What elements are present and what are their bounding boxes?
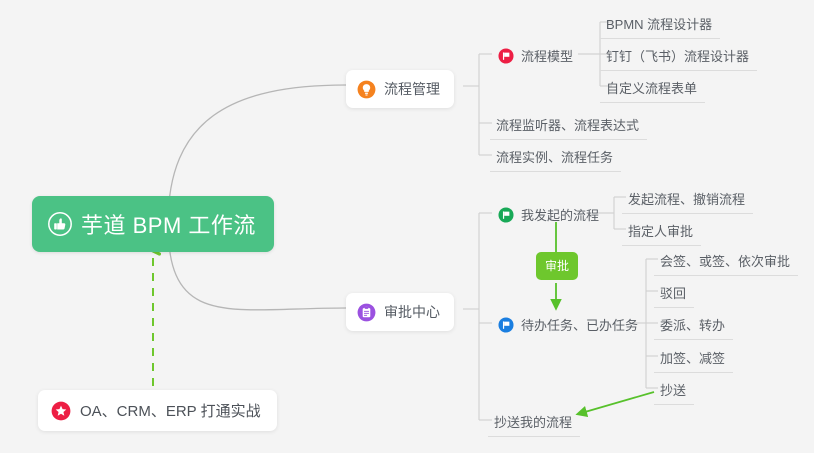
leaf-node-delegate-transfer[interactable]: 委派、转办 [654, 311, 733, 340]
clipboard-icon [357, 303, 376, 322]
node-todo-done-tasks[interactable]: 待办任务、已办任务 [492, 311, 646, 339]
node-process-model[interactable]: 流程模型 [492, 42, 581, 70]
leaf-node-dingtalk-designer[interactable]: 钉钉（飞书）流程设计器 [600, 42, 757, 71]
node-my-initiated-process[interactable]: 我发起的流程 [492, 201, 607, 229]
floating-note-integration[interactable]: OA、CRM、ERP 打通实战 [38, 390, 277, 431]
leaf-node-cc[interactable]: 抄送 [654, 376, 694, 405]
node-label: 驳回 [660, 283, 686, 302]
leaf-node-instance-task[interactable]: 流程实例、流程任务 [490, 143, 621, 172]
node-label: 抄送 [660, 380, 686, 399]
node-label: BPMN 流程设计器 [606, 14, 712, 33]
node-label: 流程实例、流程任务 [496, 147, 613, 166]
arrow-cc-to-cc-my-process [578, 392, 654, 414]
leaf-node-add-remove-sign[interactable]: 加签、减签 [654, 344, 733, 373]
node-label: 流程模型 [521, 46, 573, 65]
node-label: 委派、转办 [660, 315, 725, 334]
flag-icon [498, 317, 514, 333]
node-label: 发起流程、撤销流程 [628, 189, 745, 208]
leaf-node-listener-expression[interactable]: 流程监听器、流程表达式 [490, 111, 647, 140]
star-icon [51, 401, 71, 421]
leaf-node-custom-form[interactable]: 自定义流程表单 [600, 74, 705, 103]
leaf-node-countersign[interactable]: 会签、或签、依次审批 [654, 247, 798, 276]
thumbs-up-icon [48, 212, 72, 236]
approval-tag[interactable]: 审批 [536, 252, 578, 280]
lightbulb-pin-icon [357, 80, 376, 99]
mindmap-canvas: 芋道 BPM 工作流 流程管理 审批中心 [0, 0, 814, 453]
node-label: 钉钉（飞书）流程设计器 [606, 46, 749, 65]
root-node[interactable]: 芋道 BPM 工作流 [32, 196, 274, 252]
leaf-node-designated-approver[interactable]: 指定人审批 [622, 217, 701, 246]
root-label: 芋道 BPM 工作流 [81, 208, 256, 240]
approval-tag-label: 审批 [545, 259, 569, 273]
branch-label: 审批中心 [384, 302, 440, 322]
node-label: 我发起的流程 [521, 205, 599, 224]
branch-node-process-management[interactable]: 流程管理 [346, 70, 454, 108]
leaf-node-reject[interactable]: 驳回 [654, 279, 694, 308]
flag-icon [498, 48, 514, 64]
floating-note-label: OA、CRM、ERP 打通实战 [80, 400, 261, 421]
branch-node-approval-center[interactable]: 审批中心 [346, 293, 454, 331]
leaf-node-initiate-cancel[interactable]: 发起流程、撤销流程 [622, 185, 753, 214]
node-label: 会签、或签、依次审批 [660, 251, 790, 270]
flag-icon [498, 207, 514, 223]
leaf-node-bpmn-designer[interactable]: BPMN 流程设计器 [600, 10, 720, 39]
node-label: 抄送我的流程 [494, 412, 572, 431]
node-label: 指定人审批 [628, 221, 693, 240]
leaf-node-cc-my-process[interactable]: 抄送我的流程 [488, 408, 580, 437]
node-label: 自定义流程表单 [606, 78, 697, 97]
node-label: 流程监听器、流程表达式 [496, 115, 639, 134]
node-label: 加签、减签 [660, 348, 725, 367]
branch-label: 流程管理 [384, 79, 440, 99]
node-label: 待办任务、已办任务 [521, 315, 638, 334]
